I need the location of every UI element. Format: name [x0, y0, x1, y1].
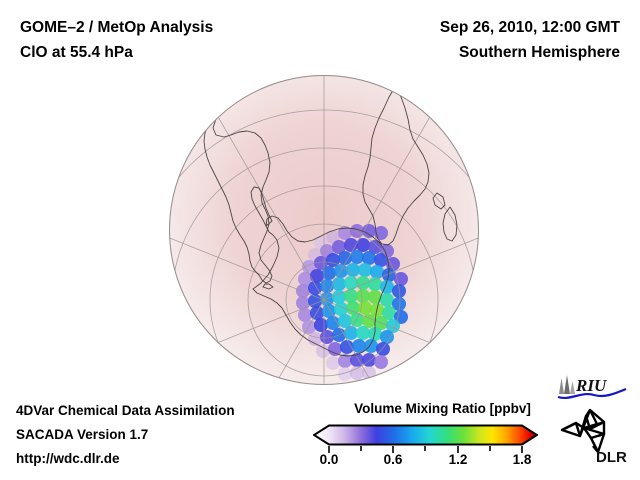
data-cell [326, 316, 340, 330]
data-cell [380, 293, 394, 307]
data-cell [302, 320, 316, 334]
colorbar-tick-3: 1.8 [513, 452, 532, 467]
data-cell [356, 238, 370, 252]
data-cell [346, 301, 360, 315]
colorbar-tick-1: 0.6 [384, 452, 403, 467]
data-cell [358, 263, 372, 277]
data-cell [356, 289, 370, 303]
page-title-instrument: GOME–2 / MetOp Analysis [20, 19, 213, 37]
data-cell [314, 318, 328, 332]
data-cell [394, 272, 408, 286]
globe-map [169, 75, 479, 385]
data-cell [316, 344, 330, 358]
data-cell [368, 290, 382, 304]
globe-layers [169, 75, 479, 385]
dlr-wordmark: DLR [596, 449, 627, 464]
data-cell [296, 296, 310, 310]
data-cell [298, 308, 312, 322]
hemisphere-label: Southern Hemisphere [459, 44, 620, 62]
data-cell [338, 314, 352, 328]
dlr-propeller-icon [562, 410, 604, 452]
riu-spikes-icon [559, 375, 575, 394]
data-cell [296, 284, 310, 298]
data-cell [356, 326, 370, 340]
dlr-logo: DLR [560, 408, 632, 464]
data-cell [340, 340, 354, 354]
coastline-madagascar [443, 207, 457, 241]
datetime-label: Sep 26, 2010, 12:00 GMT [440, 19, 620, 37]
page-title-species: ClO at 55.4 hPa [20, 44, 133, 62]
colorbar-gradient [313, 424, 538, 446]
data-cell-layer [296, 224, 408, 381]
data-cell [310, 269, 324, 283]
data-cell [364, 339, 378, 353]
riu-wordmark: RIU [575, 376, 607, 395]
footer-method: 4DVar Chemical Data Assimilation [16, 403, 235, 418]
riu-logo: RIU [556, 374, 630, 402]
data-cell [326, 356, 340, 370]
data-cell [344, 276, 358, 290]
data-cell [310, 306, 324, 320]
data-cell [362, 251, 376, 265]
data-cell [328, 342, 342, 356]
globe-disc [169, 75, 479, 385]
data-cell [374, 355, 388, 369]
colorbar-tick-2: 1.2 [449, 452, 468, 467]
coastline-south-shetland [245, 371, 265, 378]
footer-url: http://wdc.dlr.de [16, 451, 120, 466]
colorbar [313, 424, 538, 446]
colorbar-title: Volume Mixing Ratio [ppbv] [330, 401, 555, 416]
colorbar-tick-labels: 0.0 0.6 1.2 1.8 [300, 452, 552, 472]
colorbar-tick-0: 0.0 [320, 452, 339, 467]
coastline-south-america [204, 90, 272, 283]
data-cell [332, 277, 346, 291]
coastline-tierra-del-fuego [263, 284, 273, 289]
data-cell [362, 366, 376, 380]
footer-version: SACADA Version 1.7 [16, 427, 148, 442]
